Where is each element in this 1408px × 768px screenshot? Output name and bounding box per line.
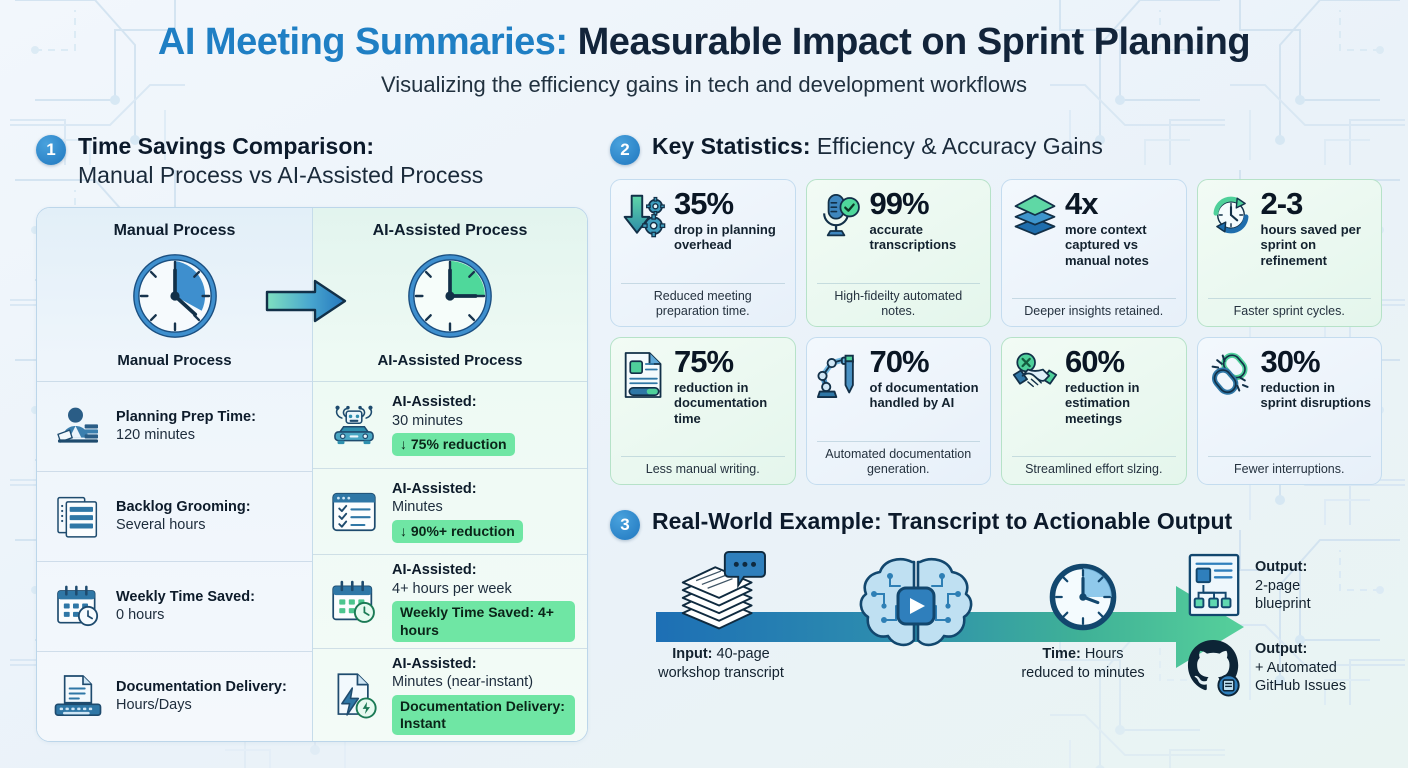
stat-value: 99% [870, 189, 981, 219]
stat-value: 30% [1261, 347, 1372, 377]
flow-time-line2: reduced to minutes [1021, 665, 1144, 681]
lightning-document-icon [327, 668, 381, 722]
manual-row-label: Backlog Grooming: [116, 499, 251, 515]
section2-title-normal: Efficiency & Accuracy Gains [817, 133, 1103, 159]
stat-label: reduction in sprint disruptions [1261, 380, 1372, 410]
flow-step-time: Time: Hours reduced to minutes [998, 560, 1168, 683]
flow-input-line2: workshop transcript [658, 665, 784, 681]
stat-card: 75% reduction in documentation time Less… [610, 337, 796, 485]
stat-value: 75% [674, 347, 785, 377]
stat-value: 60% [1065, 347, 1176, 377]
typewriter-document-icon [51, 669, 105, 723]
flow-input-rest: 40-page [713, 646, 770, 662]
section2-number-badge: 2 [610, 135, 640, 165]
flow-time-rest: Hours [1081, 646, 1124, 662]
output-blueprint-text: Output: 2-page blueprint [1255, 558, 1311, 614]
ai-column-heading: AI-Assisted Process [313, 208, 587, 242]
blueprint-document-icon [1186, 552, 1244, 620]
person-desk-icon [51, 399, 105, 453]
clock-green-icon [404, 250, 496, 342]
manual-row-backlog-grooming: Backlog Grooming: Several hours [37, 471, 312, 561]
ai-row-label: AI-Assisted: [392, 481, 477, 497]
output-blueprint-bold: Output: [1255, 559, 1307, 575]
comparison-panel: Manual Process [36, 207, 588, 742]
output-blueprint-line3: blueprint [1255, 596, 1311, 612]
ai-row-label: AI-Assisted: [392, 656, 477, 672]
stat-note: Fewer interruptions. [1208, 456, 1372, 477]
stat-label: more context captured vs manual notes [1065, 222, 1176, 267]
manual-row-weekly-time-saved: Weekly Time Saved: 0 hours [37, 561, 312, 651]
ai-brain-play-icon [850, 554, 982, 658]
stacked-documents-icon [51, 489, 105, 543]
stat-card: 2-3 hours saved per sprint on refinement… [1197, 179, 1383, 327]
manual-rows: Planning Prep Time: 120 minutes [37, 381, 312, 741]
section-key-statistics: 2 Key Statistics: Efficiency & Accuracy … [610, 132, 1382, 730]
stat-value: 4x [1065, 189, 1176, 219]
clock-refresh-icon [1208, 189, 1254, 292]
output-github-line2: + Automated [1255, 660, 1337, 676]
ai-row-badge: ↓ 75% reduction [392, 433, 515, 456]
section2-header: 2 Key Statistics: Efficiency & Accuracy … [610, 132, 1382, 165]
stat-card: 70% of documentation handled by AI Autom… [806, 337, 992, 485]
stat-value: 2-3 [1261, 189, 1372, 219]
ai-row-backlog-grooming: AI-Assisted: Minutes ↓ 90%+ reduction [313, 468, 587, 555]
flow-step-input: Input: 40-page workshop transcript [646, 550, 796, 683]
section3-header: 3 Real-World Example: Transcript to Acti… [610, 507, 1382, 540]
document-stack-chat-icon [673, 550, 769, 638]
stat-note: Deeper insights retained. [1012, 298, 1176, 319]
stat-label: drop in planning overhead [674, 222, 785, 252]
manual-row-value: 0 hours [116, 607, 164, 623]
calendar-clock-icon [51, 579, 105, 633]
page-subtitle: Visualizing the efficiency gains in tech… [0, 72, 1408, 98]
github-logo-icon [1186, 638, 1244, 698]
stat-card: 35% drop in planning overhead Reduced me… [610, 179, 796, 327]
ai-row-label: AI-Assisted: [392, 562, 477, 578]
stat-label: accurate transcriptions [870, 222, 981, 252]
ai-row-badge: Documentation Delivery: Instant [392, 695, 575, 735]
ai-row-label: AI-Assisted: [392, 394, 477, 410]
ai-row-planning-prep: AI-Assisted: 30 minutes ↓ 75% reduction [313, 381, 587, 468]
checklist-window-icon [327, 485, 381, 539]
ai-rows: AI-Assisted: 30 minutes ↓ 75% reduction [313, 381, 587, 741]
flow-output-github: Output: + Automated GitHub Issues [1186, 638, 1346, 698]
stat-value: 70% [870, 347, 981, 377]
stat-note: Automated documentation generation. [817, 441, 981, 477]
handshake-cancel-icon [1012, 347, 1058, 450]
flow-diagram: Input: 40-page workshop transcript [610, 550, 1382, 730]
section3-title: Real-World Example: Transcript to Action… [652, 508, 1232, 534]
manual-row-documentation-delivery: Documentation Delivery: Hours/Days [37, 651, 312, 741]
ai-row-value: 30 minutes [392, 413, 463, 429]
stat-label: of documentation handled by AI [870, 380, 981, 410]
right-arrow-icon [265, 276, 349, 326]
flow-input-caption: Input: 40-page workshop transcript [646, 645, 796, 683]
broken-chain-icon [1208, 347, 1254, 450]
output-github-bold: Output: [1255, 641, 1307, 657]
stat-value: 35% [674, 189, 785, 219]
page-header: AI Meeting Summaries: Measurable Impact … [0, 0, 1408, 98]
robot-arm-pen-icon [817, 347, 863, 435]
output-github-line3: GitHub Issues [1255, 678, 1346, 694]
stat-note: Faster sprint cycles. [1208, 298, 1372, 319]
section1-title-normal: Manual Process vs AI-Assisted Process [78, 162, 483, 188]
ai-row-value: Minutes [392, 499, 443, 515]
ai-column-footer: AI-Assisted Process [313, 350, 587, 381]
clock-icon [1046, 560, 1120, 634]
stats-grid: 35% drop in planning overhead Reduced me… [610, 179, 1382, 485]
ai-clock-wrap [313, 242, 587, 350]
title-main: Measurable Impact on Sprint Planning [578, 21, 1250, 63]
section1-header: 1 Time Savings Comparison: Manual Proces… [36, 132, 588, 191]
ai-row-badge: ↓ 90%+ reduction [392, 520, 523, 543]
title-accent: AI Meeting Summaries: [158, 21, 568, 63]
section1-title-bold: Time Savings Comparison: [78, 133, 374, 159]
stat-note: Reduced meeting preparation time. [621, 283, 785, 319]
layers-stack-icon [1012, 189, 1058, 292]
flow-time-caption: Time: Hours reduced to minutes [998, 645, 1168, 683]
stat-card: 4x more context captured vs manual notes… [1001, 179, 1187, 327]
document-card-icon [621, 347, 667, 450]
robot-car-icon [327, 398, 381, 452]
stat-note: Less manual writing. [621, 456, 785, 477]
section-time-savings: 1 Time Savings Comparison: Manual Proces… [36, 132, 588, 742]
stat-note: Streamlined effort slzing. [1012, 456, 1176, 477]
flow-time-bold: Time: [1042, 646, 1080, 662]
flow-output-blueprint: Output: 2-page blueprint [1186, 552, 1311, 620]
down-arrow-gears-icon [621, 189, 667, 277]
output-github-text: Output: + Automated GitHub Issues [1255, 640, 1346, 696]
manual-column-footer: Manual Process [37, 350, 312, 381]
section2-title-bold: Key Statistics: [652, 133, 811, 159]
stat-note: High-fideilty automated notes. [817, 283, 981, 319]
ai-process-column: AI-Assisted Process [312, 208, 587, 741]
page-title: AI Meeting Summaries: Measurable Impact … [0, 22, 1408, 64]
manual-row-value: Hours/Days [116, 697, 192, 713]
manual-row-label: Weekly Time Saved: [116, 589, 255, 605]
clock-blue-icon [129, 250, 221, 342]
section3-number-badge: 3 [610, 510, 640, 540]
ai-row-badge: Weekly Time Saved: 4+ hours [392, 601, 575, 641]
stat-label: reduction in estimation meetings [1065, 380, 1176, 425]
section1-number-badge: 1 [36, 135, 66, 165]
ai-row-documentation-delivery: AI-Assisted: Minutes (near-instant) Docu… [313, 648, 587, 741]
ai-row-value: 4+ hours per week [392, 581, 512, 597]
manual-column-heading: Manual Process [37, 208, 312, 242]
microphone-check-icon [817, 189, 863, 277]
output-blueprint-line2: 2-page [1255, 578, 1300, 594]
stat-card: 99% accurate transcriptions High-fideilt… [806, 179, 992, 327]
stat-card: 60% reduction in estimation meetings Str… [1001, 337, 1187, 485]
manual-row-label: Documentation Delivery: [116, 679, 287, 695]
stat-label: reduction in documentation time [674, 380, 785, 425]
ai-row-value: Minutes (near-instant) [392, 674, 533, 690]
manual-row-label: Planning Prep Time: [116, 409, 256, 425]
manual-row-value: 120 minutes [116, 427, 195, 443]
manual-row-planning-prep: Planning Prep Time: 120 minutes [37, 381, 312, 471]
calendar-clock-green-icon [327, 575, 381, 629]
flow-input-bold: Input: [672, 646, 712, 662]
stat-card: 30% reduction in sprint disruptions Fewe… [1197, 337, 1383, 485]
ai-row-weekly-time-saved: AI-Assisted: 4+ hours per week Weekly Ti… [313, 554, 587, 647]
stat-label: hours saved per sprint on refinement [1261, 222, 1372, 267]
manual-row-value: Several hours [116, 517, 205, 533]
flow-step-ai-brain [846, 554, 986, 663]
